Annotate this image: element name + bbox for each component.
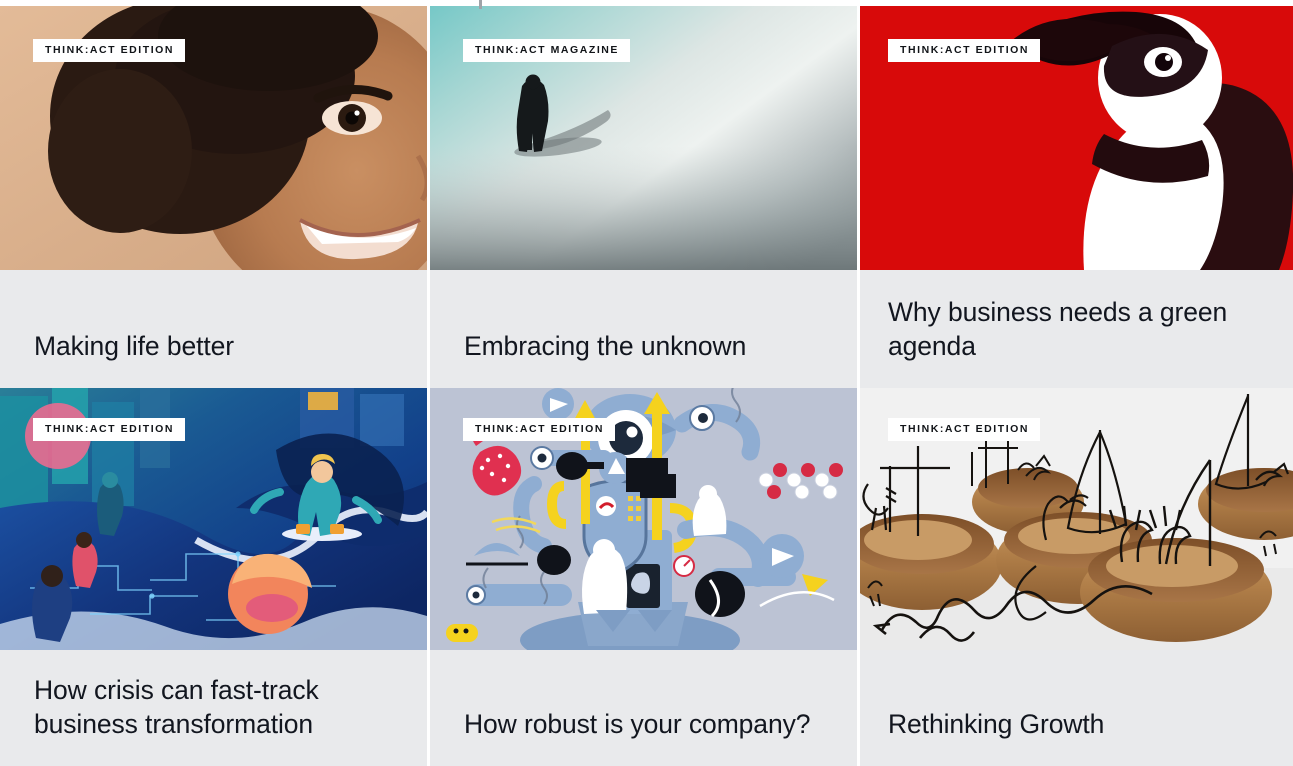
card-body: Why business needs a green agenda (860, 270, 1293, 388)
card-title: Why business needs a green agenda (888, 296, 1259, 364)
card-media: THINK:ACT EDITION (430, 388, 857, 650)
card-media: THINK:ACT EDITION (860, 388, 1293, 650)
card-body: Rethinking Growth (860, 650, 1293, 766)
card-media: THINK:ACT EDITION (0, 388, 427, 650)
article-card-grid: THINK:ACT EDITION Making life better (0, 6, 1293, 766)
card-badge: THINK:ACT MAGAZINE (463, 39, 630, 62)
article-card[interactable]: THINK:ACT EDITION Making life better (0, 6, 427, 388)
card-title: Embracing the unknown (464, 330, 746, 364)
article-card[interactable]: THINK:ACT EDITION Rethinking Growth (860, 388, 1293, 766)
card-badge: THINK:ACT EDITION (33, 418, 185, 441)
article-card[interactable]: THINK:ACT EDITION How crisis can fast-tr… (0, 388, 427, 766)
card-title: How robust is your company? (464, 708, 810, 742)
card-body: How robust is your company? (430, 650, 857, 766)
card-badge: THINK:ACT EDITION (888, 418, 1040, 441)
publications-grid-page: THINK:ACT EDITION Making life better (0, 0, 1293, 766)
card-badge: THINK:ACT EDITION (888, 39, 1040, 62)
card-title: Making life better (34, 330, 234, 364)
card-badge: THINK:ACT EDITION (463, 418, 615, 441)
card-body: Embracing the unknown (430, 270, 857, 388)
card-media: THINK:ACT EDITION (860, 6, 1293, 270)
card-badge: THINK:ACT EDITION (33, 39, 185, 62)
card-body: Making life better (0, 270, 427, 388)
scroll-caret-tick (479, 0, 482, 9)
card-body: How crisis can fast-track business trans… (0, 650, 427, 766)
card-media: THINK:ACT MAGAZINE (430, 6, 857, 270)
card-media: THINK:ACT EDITION (0, 6, 427, 270)
card-title: How crisis can fast-track business trans… (34, 674, 393, 742)
card-title: Rethinking Growth (888, 708, 1104, 742)
article-card[interactable]: THINK:ACT EDITION Why business needs a g… (860, 6, 1293, 388)
article-card[interactable]: THINK:ACT EDITION How robust is your com… (430, 388, 857, 766)
article-card[interactable]: THINK:ACT MAGAZINE Embracing the unknown (430, 6, 857, 388)
